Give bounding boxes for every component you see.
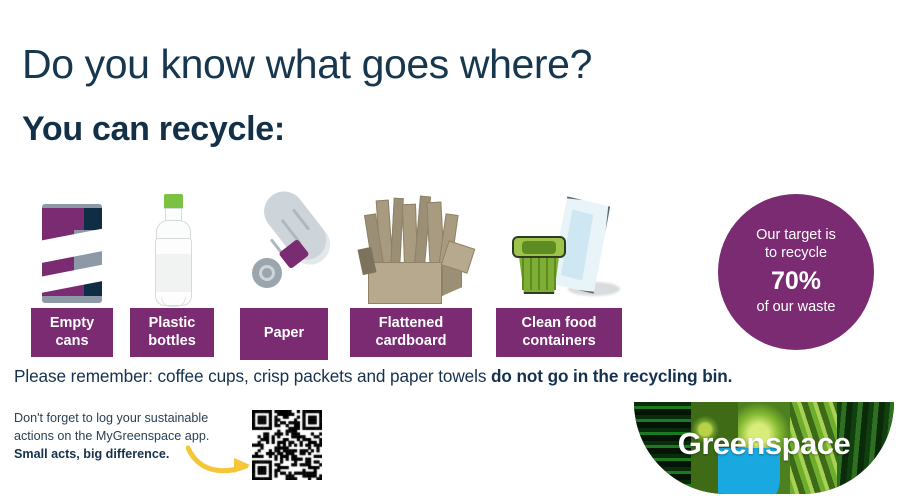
item-label: Plastic bottles (130, 308, 214, 357)
item-label-line2: containers (522, 333, 595, 349)
item-label-line2: bottles (148, 333, 196, 349)
item-label: Flattened cardboard (350, 308, 472, 357)
curved-arrow-icon (186, 440, 256, 480)
remember-note: Please remember: coffee cups, crisp pack… (14, 366, 732, 387)
target-line-1: Our target is (756, 227, 836, 245)
app-note-line-1: Don't forget to log your sustainable (14, 410, 254, 428)
item-label: Clean food containers (496, 308, 622, 357)
recycle-item-clean-food-containers: Clean food containers (496, 190, 626, 298)
remember-regular-text: Please remember: coffee cups, crisp pack… (14, 366, 491, 386)
aluminium-can-icon (12, 190, 112, 298)
recycle-item-flattened-cardboard: Flattened cardboard (346, 190, 476, 298)
item-label-line1: Clean food (522, 315, 597, 331)
item-label-line1: Plastic (149, 315, 196, 331)
rolled-newspaper-icon (232, 190, 342, 298)
target-line-2: to recycle (765, 245, 827, 263)
item-label: Empty cans (31, 308, 113, 357)
target-percentage: 70% (771, 266, 821, 297)
item-label-line1: Paper (264, 325, 304, 341)
greenspace-logo: Greenspace (634, 402, 894, 494)
poster-canvas: Do you know what goes where? You can rec… (0, 0, 898, 496)
cardboard-box-icon (346, 190, 476, 298)
qr-code[interactable] (252, 410, 322, 480)
item-label-line1: Empty (50, 315, 94, 331)
item-label: Paper (240, 308, 328, 360)
recycling-target-badge: Our target is to recycle 70% of our wast… (718, 194, 874, 350)
item-label-line2: cans (55, 333, 88, 349)
item-label-line2: cardboard (376, 333, 447, 349)
page-subtitle: You can recycle: (22, 112, 285, 146)
recycle-item-empty-cans: Empty cans (12, 190, 112, 298)
logo-text: Greenspace (634, 426, 894, 462)
recycle-item-paper: Paper (232, 190, 342, 298)
food-container-icon (496, 190, 626, 298)
plastic-bottle-icon (122, 190, 222, 298)
remember-bold-text: do not go in the recycling bin. (491, 366, 732, 386)
recycle-item-plastic-bottles: Plastic bottles (122, 190, 222, 298)
page-title: Do you know what goes where? (22, 44, 592, 85)
target-line-3: of our waste (757, 299, 836, 317)
item-label-line1: Flattened (379, 315, 443, 331)
